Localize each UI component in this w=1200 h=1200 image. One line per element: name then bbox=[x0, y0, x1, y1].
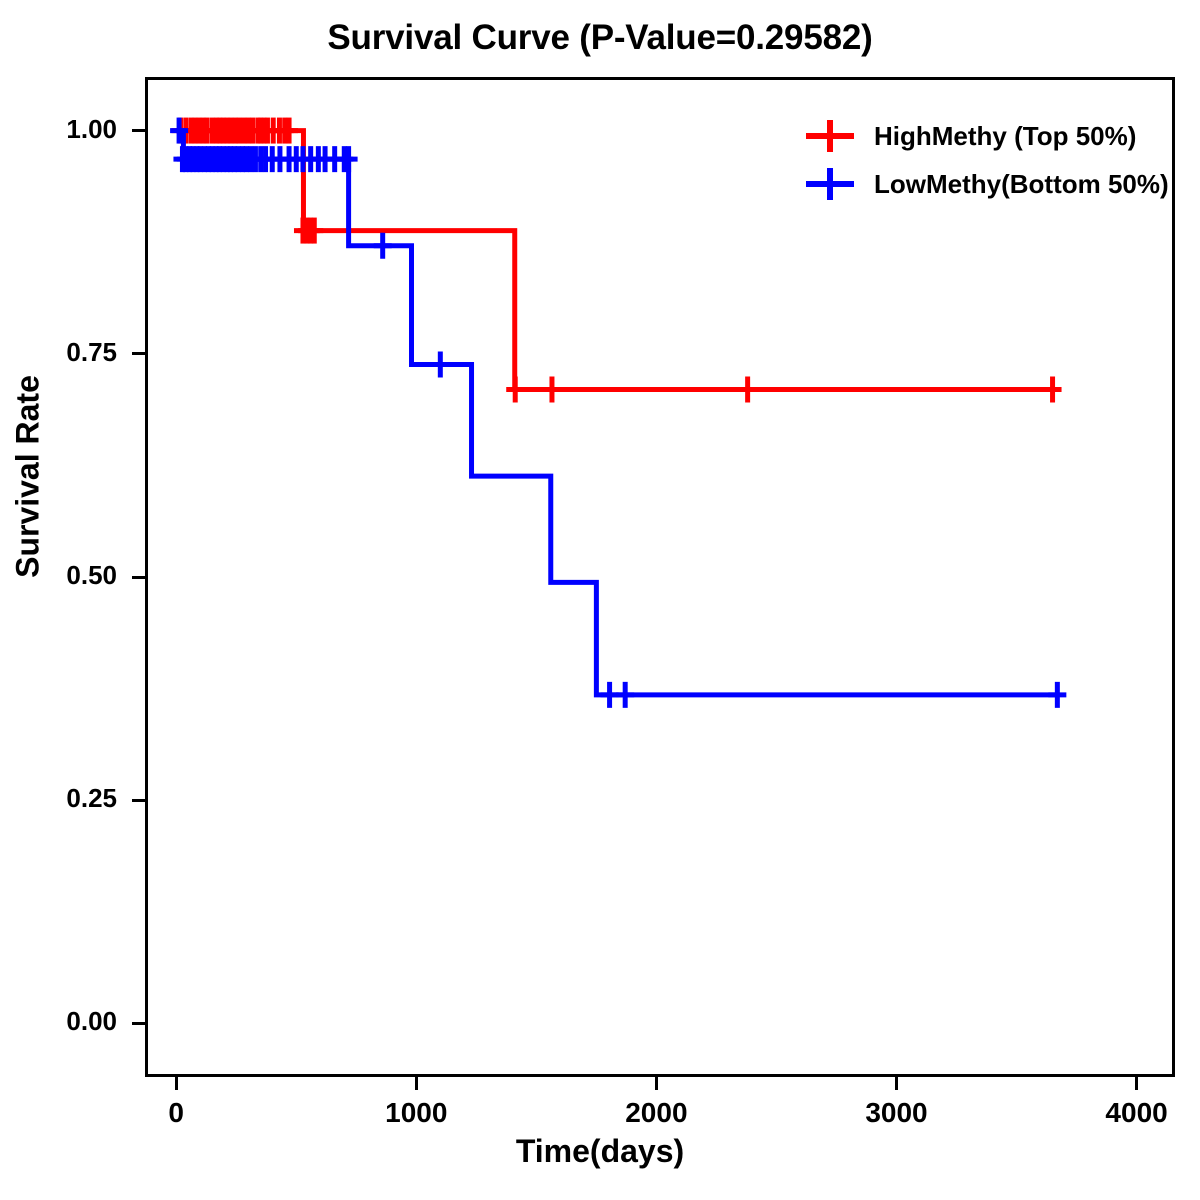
y-tick-mark bbox=[132, 1022, 145, 1025]
x-tick-mark bbox=[1135, 1077, 1138, 1090]
legend-item-lowmethy[interactable]: LowMethy(Bottom 50%) bbox=[800, 160, 1170, 208]
y-axis-label: Survival Rate bbox=[10, 375, 46, 578]
y-tick-label: 0.75 bbox=[27, 337, 117, 368]
legend-label-highmethy: HighMethy (Top 50%) bbox=[860, 121, 1136, 152]
x-tick-mark bbox=[895, 1077, 898, 1090]
legend-label-lowmethy: LowMethy(Bottom 50%) bbox=[860, 169, 1169, 200]
x-tick-label: 0 bbox=[116, 1097, 236, 1129]
legend-vbar bbox=[827, 168, 833, 200]
legend-vbar bbox=[827, 120, 833, 152]
x-axis-label: Time(days) bbox=[0, 1133, 1200, 1170]
survival-curves-svg bbox=[145, 77, 1175, 1077]
plus-marker-icon-red bbox=[800, 116, 860, 156]
page-title: Survival Curve (P-Value=0.29582) bbox=[0, 18, 1200, 58]
x-tick-mark bbox=[655, 1077, 658, 1090]
y-tick-label: 1.00 bbox=[27, 114, 117, 145]
x-tick-label: 2000 bbox=[596, 1097, 716, 1129]
y-tick-mark bbox=[132, 352, 145, 355]
legend-item-highmethy[interactable]: HighMethy (Top 50%) bbox=[800, 112, 1170, 160]
y-tick-label: 0.00 bbox=[27, 1006, 117, 1037]
x-tick-label: 3000 bbox=[836, 1097, 956, 1129]
x-tick-mark bbox=[415, 1077, 418, 1090]
x-tick-label: 4000 bbox=[1077, 1097, 1197, 1129]
survival-curve-figure: Survival Curve (P-Value=0.29582) Surviva… bbox=[0, 0, 1200, 1200]
legend: HighMethy (Top 50%) LowMethy(Bottom 50%) bbox=[800, 112, 1170, 208]
x-tick-label: 1000 bbox=[356, 1097, 476, 1129]
y-tick-mark bbox=[132, 129, 145, 132]
y-tick-label: 0.25 bbox=[27, 783, 117, 814]
y-tick-mark bbox=[132, 576, 145, 579]
y-tick-mark bbox=[132, 799, 145, 802]
plot-area bbox=[145, 77, 1175, 1077]
survival-curve-line-1 bbox=[176, 131, 1057, 695]
y-tick-label: 0.50 bbox=[27, 560, 117, 591]
plus-marker-icon-blue bbox=[800, 164, 860, 204]
x-tick-mark bbox=[175, 1077, 178, 1090]
